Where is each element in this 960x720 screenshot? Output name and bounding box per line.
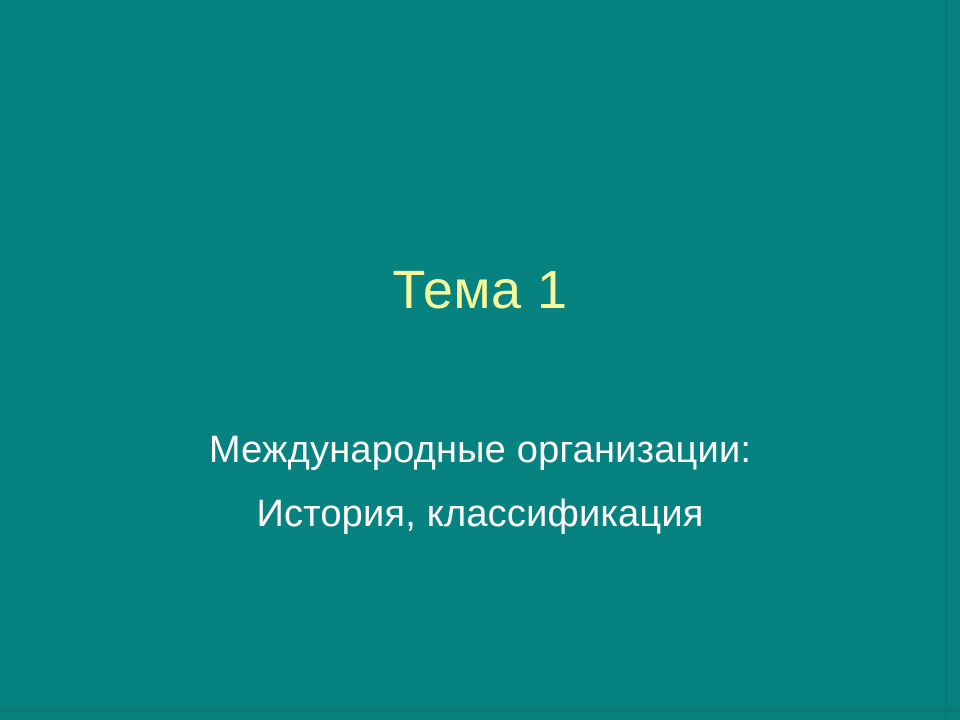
page-title: Тема 1 xyxy=(0,262,960,319)
slide-edge-line-bottom xyxy=(0,707,960,712)
slide-subtitle-block: Международные организации: История, клас… xyxy=(0,418,960,546)
presentation-slide: Тема 1 Международные организации: Истори… xyxy=(0,0,960,720)
subtitle-line-1: Международные организации: xyxy=(0,418,960,482)
slide-edge-line-right xyxy=(945,0,947,720)
slide-title-block: Тема 1 xyxy=(0,262,960,319)
subtitle-line-2: История, классификация xyxy=(0,482,960,546)
